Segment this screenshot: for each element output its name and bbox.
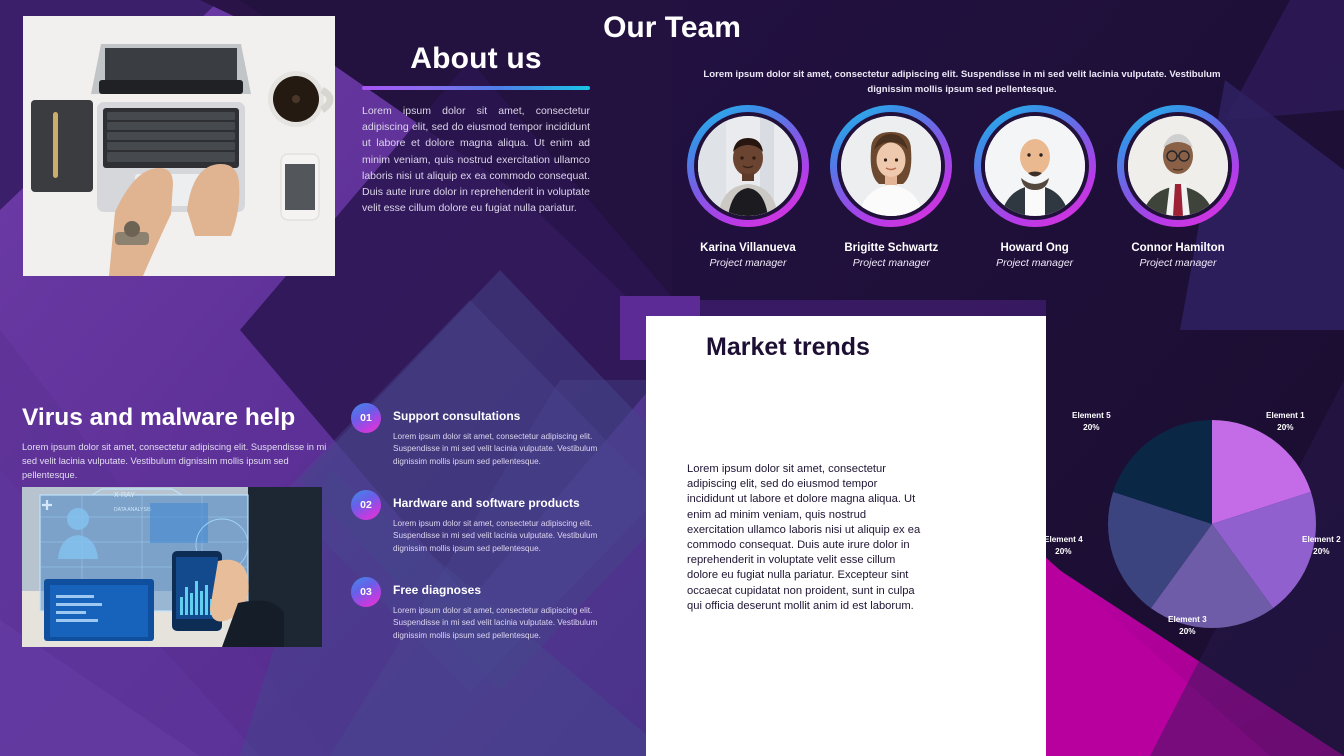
our-team-title: Our Team [0, 11, 1344, 45]
team-member-name: Brigitte Schwartz [827, 242, 955, 254]
pie-label-name: Element 3 [1168, 614, 1207, 626]
team-member-role: Project manager [971, 256, 1099, 271]
avatar [698, 116, 798, 216]
step-text: Lorem ipsum dolor sit amet, consectetur … [393, 518, 611, 555]
avatar [985, 116, 1085, 216]
service-steps-list: 01 Support consultations Lorem ipsum dol… [351, 403, 611, 664]
team-member-name: Connor Hamilton [1114, 242, 1242, 254]
avatar-ring-inner [1124, 112, 1232, 220]
virus-help-photo: X-RAY DATA ANALYSIS [22, 487, 322, 647]
pie-label-name: Element 4 [1044, 534, 1083, 546]
pie-label-value: 20% [1044, 546, 1083, 558]
step-title: Free diagnoses [393, 577, 611, 597]
about-us-title: About us [362, 42, 590, 75]
about-us-section: About us Lorem ipsum dolor sit amet, con… [362, 42, 590, 216]
step-number-badge: 03 [351, 577, 381, 607]
virus-help-body: Lorem ipsum dolor sit amet, consectetur … [22, 440, 338, 483]
team-member-role: Project manager [827, 256, 955, 271]
svg-text:DATA ANALYSIS: DATA ANALYSIS [114, 507, 152, 513]
step-number-badge: 01 [351, 403, 381, 433]
market-trends-title: Market trends [706, 333, 870, 362]
about-us-accent-rule [362, 86, 590, 90]
pie-label-element-2: Element 2 20% [1302, 534, 1341, 557]
pie-label-value: 20% [1072, 422, 1111, 434]
presentation-slide: About us Lorem ipsum dolor sit amet, con… [0, 0, 1344, 756]
avatar-ring [1117, 105, 1239, 227]
team-member-role: Project manager [1114, 256, 1242, 271]
avatar [1128, 116, 1228, 216]
step-number-badge: 02 [351, 490, 381, 520]
svg-text:X-RAY: X-RAY [114, 492, 135, 499]
pie-label-element-4: Element 4 20% [1044, 534, 1083, 557]
pie-label-value: 20% [1266, 422, 1305, 434]
step-text: Lorem ipsum dolor sit amet, consectetur … [393, 605, 611, 642]
team-member-name: Howard Ong [971, 242, 1099, 254]
our-team-subtitle: Lorem ipsum dolor sit amet, consectetur … [684, 68, 1240, 97]
avatar-ring [687, 105, 809, 227]
avatar-ring [974, 105, 1096, 227]
about-us-body: Lorem ipsum dolor sit amet, consectetur … [362, 103, 590, 216]
team-member-card[interactable]: Howard Ong Project manager [971, 105, 1099, 271]
step-item[interactable]: 03 Free diagnoses Lorem ipsum dolor sit … [351, 577, 611, 651]
team-member-list: Karina Villanueva Project manager [684, 105, 1242, 271]
market-trends-body: Lorem ipsum dolor sit amet, consectetur … [687, 462, 922, 614]
pie-label-name: Element 5 [1072, 410, 1111, 422]
pie-label-name: Element 2 [1302, 534, 1341, 546]
avatar-ring-inner [981, 112, 1089, 220]
team-member-name: Karina Villanueva [684, 242, 812, 254]
avatar-ring-inner [694, 112, 802, 220]
pie-label-element-3: Element 3 20% [1168, 614, 1207, 637]
pie-label-name: Element 1 [1266, 410, 1305, 422]
step-title: Hardware and software products [393, 490, 611, 510]
pie-label-element-1: Element 1 20% [1266, 410, 1305, 433]
pie-label-value: 20% [1168, 626, 1207, 638]
market-trends-pie-chart: Element 1 20% Element 2 20% Element 3 20… [1106, 418, 1318, 630]
team-member-card[interactable]: Karina Villanueva Project manager [684, 105, 812, 271]
step-title: Support consultations [393, 403, 611, 423]
team-member-role: Project manager [684, 256, 812, 271]
step-item[interactable]: 01 Support consultations Lorem ipsum dol… [351, 403, 611, 477]
market-trends-panel: Market trends Lorem ipsum dolor sit amet… [646, 316, 1046, 756]
avatar-ring [830, 105, 952, 227]
pie-label-element-5: Element 5 20% [1072, 410, 1111, 433]
avatar [841, 116, 941, 216]
team-member-card[interactable]: Brigitte Schwartz Project manager [827, 105, 955, 271]
pie-label-value: 20% [1302, 546, 1341, 558]
step-text: Lorem ipsum dolor sit amet, consectetur … [393, 431, 611, 468]
virus-help-title: Virus and malware help [22, 404, 295, 432]
about-photo [23, 16, 335, 276]
step-item[interactable]: 02 Hardware and software products Lorem … [351, 490, 611, 564]
team-member-card[interactable]: Connor Hamilton Project manager [1114, 105, 1242, 271]
pie-svg [1106, 418, 1318, 630]
avatar-ring-inner [837, 112, 945, 220]
